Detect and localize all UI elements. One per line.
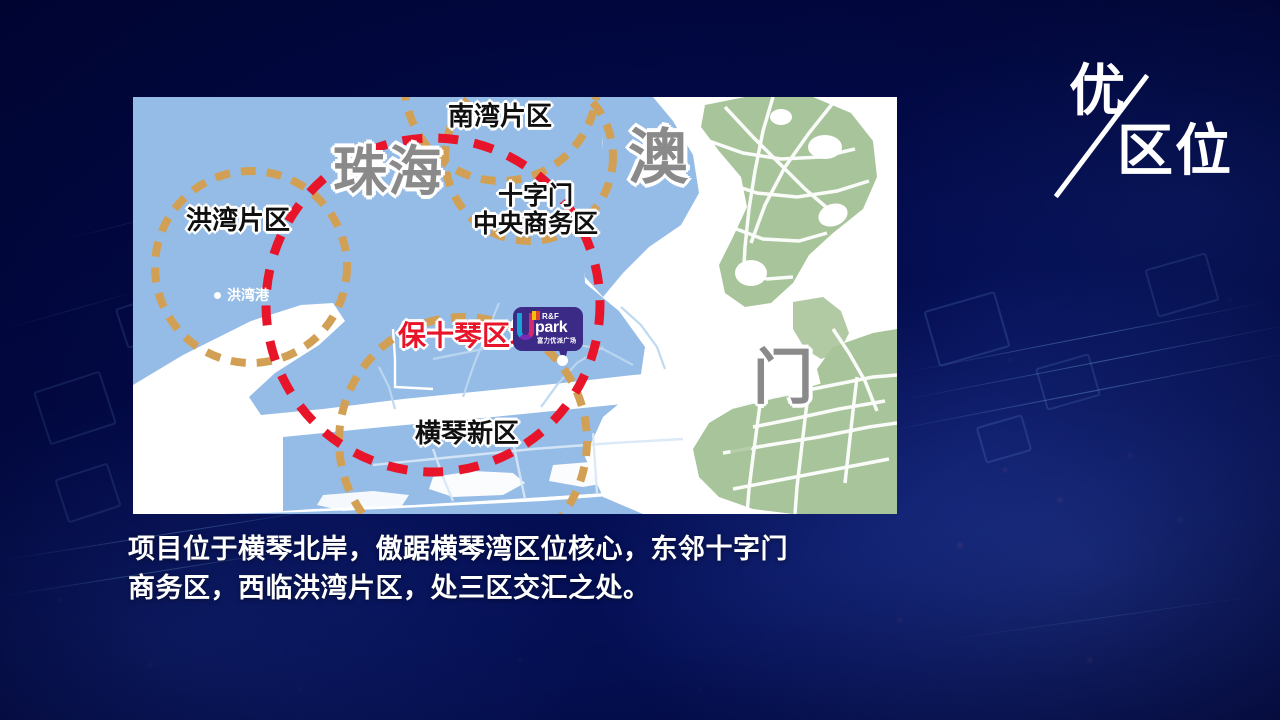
poi-dot-icon [214, 292, 221, 299]
caption-line-2: 商务区，西临洪湾片区，处三区交汇之处。 [128, 569, 928, 608]
brand-logo: 优 区位 [1055, 62, 1245, 192]
map-watermark-macau-1: 澳 [628, 125, 688, 192]
map-label-shizimen-line2: 中央商务区 [473, 210, 598, 238]
location-map[interactable]: 珠海 澳 门 南湾片区 洪湾片区 十字门 中央商务区 保十琴区域 横琴新区 洪湾… [133, 97, 897, 514]
caption-line-1: 项目位于横琴北岸，傲踞横琴湾区位核心，东邻十字门 [128, 530, 928, 569]
rf-park-brand-main: park [535, 319, 567, 337]
map-watermark-macau-2: 门 [753, 345, 813, 412]
project-marker-pin-dot-icon [557, 355, 568, 366]
map-label-hengqin[interactable]: 横琴新区 [415, 420, 519, 449]
project-marker-bubble: R&F park 富力优派广场 [513, 307, 583, 351]
map-label-hongwan[interactable]: 洪湾片区 [186, 207, 290, 236]
map-label-nanwan[interactable]: 南湾片区 [448, 103, 552, 132]
map-geometry [133, 97, 897, 514]
map-label-shizimen[interactable]: 十字门 中央商务区 [473, 182, 598, 238]
map-label-shizimen-line1: 十字门 [473, 182, 598, 210]
map-watermark-zhuhai: 珠海 [333, 142, 443, 202]
rf-park-brand-cn: 富力优派广场 [537, 336, 576, 345]
slide-root: 优 区位 [0, 0, 1280, 720]
caption-block: 项目位于横琴北岸，傲踞横琴湾区位核心，东邻十字门 商务区，西临洪湾片区，处三区交… [128, 530, 928, 608]
map-poi-hongwan-port[interactable]: 洪湾港 [214, 285, 269, 305]
project-marker[interactable]: R&F park 富力优派广场 [513, 307, 583, 369]
brand-logo-bottom-chars: 区位 [1117, 124, 1233, 180]
map-poi-hongwan-port-label: 洪湾港 [227, 285, 269, 305]
